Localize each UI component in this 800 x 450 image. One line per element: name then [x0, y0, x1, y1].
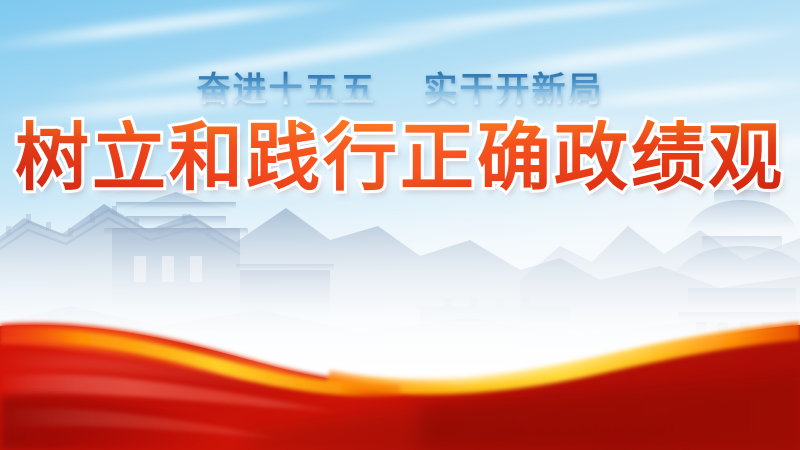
great-wall-battlements — [6, 206, 211, 237]
poster-canvas: 奋进十五五 实干开新局 树立和践行正确政绩观 树立和践行正确政绩观 树立和践行正… — [0, 0, 800, 450]
poster-title: 树立和践行正确政绩观 — [0, 120, 800, 200]
headline-group: 奋进十五五 实干开新局 树立和践行正确政绩观 树立和践行正确政绩观 树立和践行正… — [0, 70, 800, 206]
subtitle-part-one: 奋进十五五 — [197, 71, 377, 109]
cloud-streak-icon — [301, 0, 760, 45]
poster-subtitle: 奋进十五五 实干开新局 — [0, 70, 800, 110]
great-wall-icon — [0, 210, 240, 256]
poster-title-wrap: 树立和践行正确政绩观 树立和践行正确政绩观 树立和践行正确政绩观 — [0, 120, 800, 206]
red-silk-ribbon — [0, 300, 800, 450]
subtitle-separator — [377, 71, 424, 109]
cloud-streak-icon — [0, 0, 379, 56]
subtitle-part-two: 实干开新局 — [423, 71, 603, 109]
